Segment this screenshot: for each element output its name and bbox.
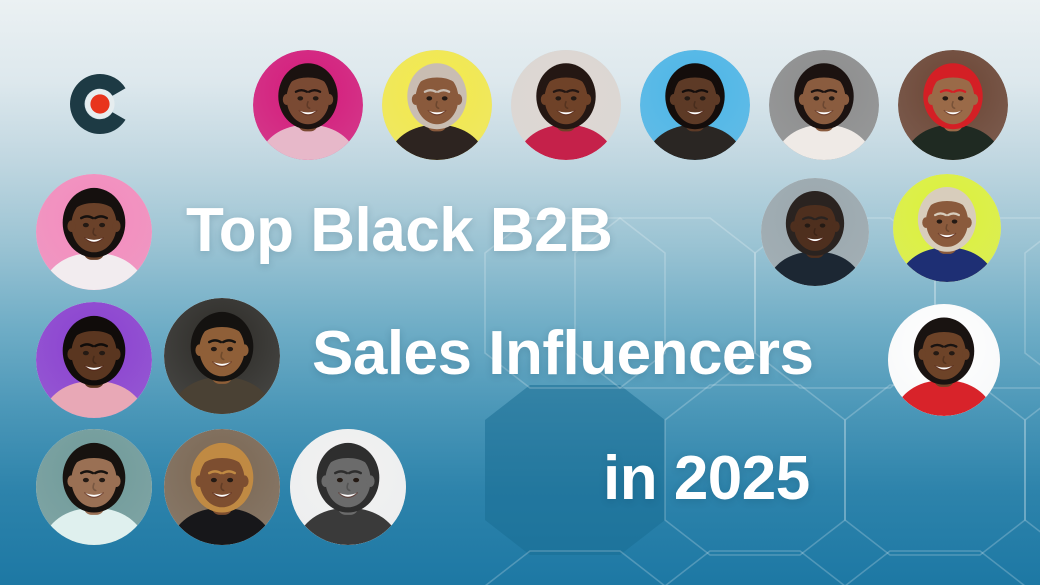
avatar-top-6 [898,50,1008,160]
avatar-top-3 [511,50,621,160]
avatar-top-5 [769,50,879,160]
avatar-top-2 [382,50,492,160]
avatar-top-4 [640,50,750,160]
c-logo-icon [70,74,126,134]
avatar-left-2 [36,302,152,418]
avatar-bot-1 [36,429,152,545]
banner-graphic: Top Black B2B Sales Influencers in 2025 [0,0,1040,585]
avatar-left-3 [164,298,280,414]
avatar-left-1 [36,174,152,290]
brand-logo[interactable] [66,70,134,138]
avatar-bot-2 [164,429,280,545]
avatar-right-2 [893,174,1001,282]
avatar-top-1 [253,50,363,160]
avatar-right-1 [761,178,869,286]
avatar-right-3 [888,304,1000,416]
hexagon-filled [485,385,665,555]
avatar-bot-3 [290,429,406,545]
